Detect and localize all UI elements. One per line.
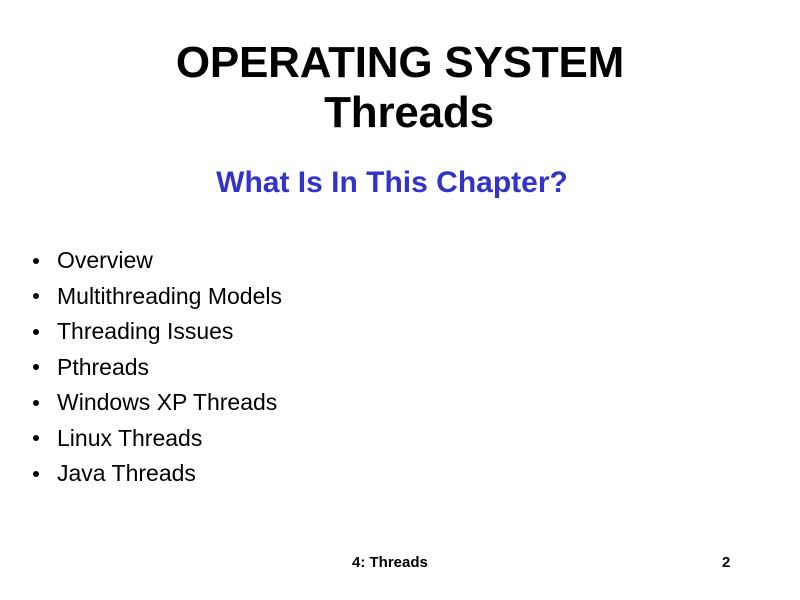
list-item: Windows XP Threads <box>28 385 768 421</box>
list-item: Pthreads <box>28 350 768 386</box>
slide-footer: 4: Threads 2 <box>0 552 800 574</box>
list-item-label: Java Threads <box>57 456 196 492</box>
list-item-label: Threading Issues <box>57 314 233 350</box>
list-item-label: Multithreading Models <box>57 279 282 315</box>
list-item-label: Windows XP Threads <box>57 385 277 421</box>
bullet-dot-icon <box>33 471 39 477</box>
bullet-dot-icon <box>33 258 39 264</box>
list-item: Overview <box>28 243 768 279</box>
list-item-label: Pthreads <box>57 350 149 386</box>
slide-title-line-2: Threads <box>9 88 800 138</box>
list-item-label: Overview <box>57 243 153 279</box>
list-item: Linux Threads <box>28 421 768 457</box>
footer-page-number: 2 <box>722 552 730 574</box>
slide-title-line-1: OPERATING SYSTEM <box>0 38 800 88</box>
bullet-dot-icon <box>33 329 39 335</box>
slide-title: OPERATING SYSTEM Threads <box>0 38 800 138</box>
list-item-label: Linux Threads <box>57 421 202 457</box>
list-item: Java Threads <box>28 456 768 492</box>
list-item: Threading Issues <box>28 314 768 350</box>
chapter-topics-list: Overview Multithreading Models Threading… <box>28 243 768 492</box>
bullet-dot-icon <box>33 400 39 406</box>
bullet-dot-icon <box>33 364 39 370</box>
slide-subtitle: What Is In This Chapter? <box>0 165 784 201</box>
presentation-slide: OPERATING SYSTEM Threads What Is In This… <box>0 0 800 600</box>
list-item: Multithreading Models <box>28 279 768 315</box>
bullet-dot-icon <box>33 435 39 441</box>
bullet-dot-icon <box>33 293 39 299</box>
footer-chapter-label: 4: Threads <box>352 552 428 574</box>
